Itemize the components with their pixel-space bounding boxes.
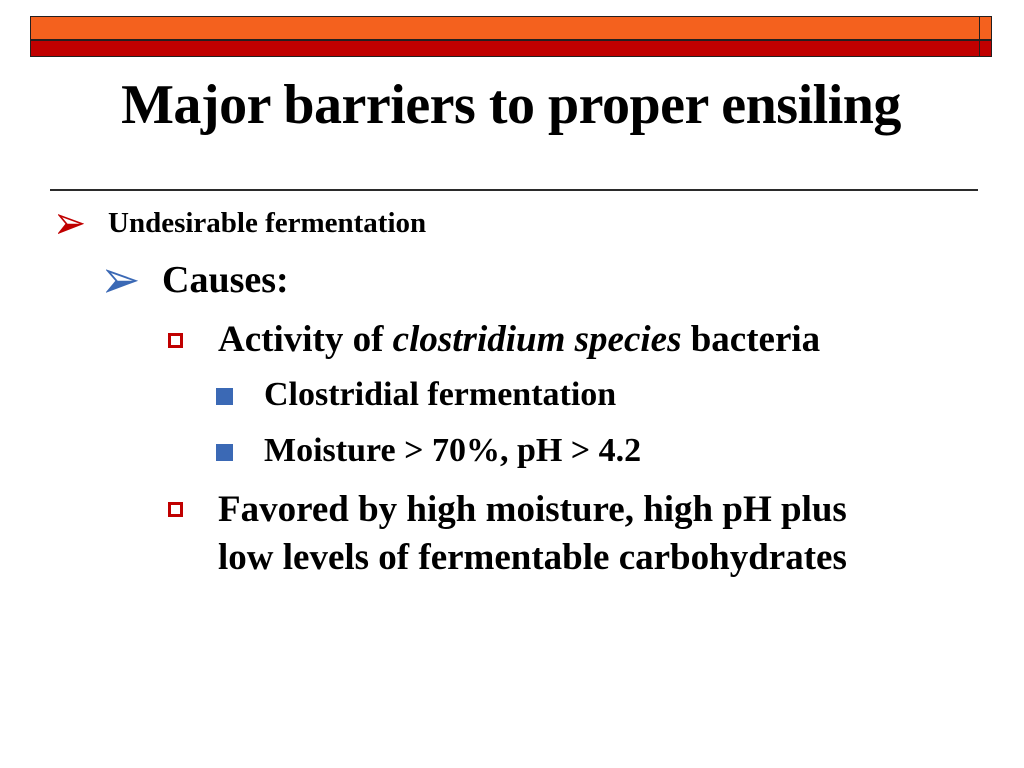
header-bar-orange-end: [979, 17, 991, 39]
bullet-moisture-ph: Moisture > 70%, pH > 4.2: [0, 430, 1024, 474]
bullet-clostridial-fermentation: Clostridial fermentation: [0, 374, 1024, 418]
bullet-text-lead: Activity of: [218, 319, 393, 360]
header-bar-red-end: [979, 41, 991, 56]
bullet-text: Causes:: [162, 257, 1024, 303]
header-bar-orange-main: [31, 17, 979, 39]
bullet-undesirable-fermentation: Undesirable fermentation: [0, 205, 1024, 243]
arrow-bullet-blue-icon: [106, 257, 162, 305]
header-decoration: [30, 16, 992, 57]
header-bar-orange: [30, 16, 992, 40]
arrow-bullet-red-icon: [58, 205, 108, 243]
header-bar-red-main: [31, 41, 979, 56]
bullet-text: Clostridial fermentation: [264, 374, 1024, 415]
bullet-text: Activity of clostridium species bacteria: [218, 317, 1024, 362]
square-bullet-solid-blue-icon: [216, 430, 264, 474]
title-divider-rule: [50, 189, 978, 191]
header-bar-red: [30, 40, 992, 57]
bullet-text: Moisture > 70%, pH > 4.2: [264, 430, 1024, 471]
bullet-text: Undesirable fermentation: [108, 205, 1024, 242]
slide-body: Undesirable fermentation Causes: Activit…: [0, 203, 1024, 582]
square-bullet-hollow-red-icon: [168, 486, 218, 533]
square-bullet-solid-blue-icon: [216, 374, 264, 418]
square-bullet-hollow-red-icon: [168, 317, 218, 364]
bullet-activity-clostridium: Activity of clostridium species bacteria: [0, 317, 1024, 364]
bullet-text-species-italic: clostridium species: [393, 319, 682, 360]
bullet-favored-conditions: Favored by high moisture, high pH plus l…: [0, 486, 1024, 582]
slide-title: Major barriers to proper ensiling: [30, 76, 992, 135]
bullet-causes: Causes:: [0, 257, 1024, 305]
bullet-text: Favored by high moisture, high pH plus l…: [218, 486, 858, 582]
bullet-text-tail: bacteria: [681, 319, 820, 360]
